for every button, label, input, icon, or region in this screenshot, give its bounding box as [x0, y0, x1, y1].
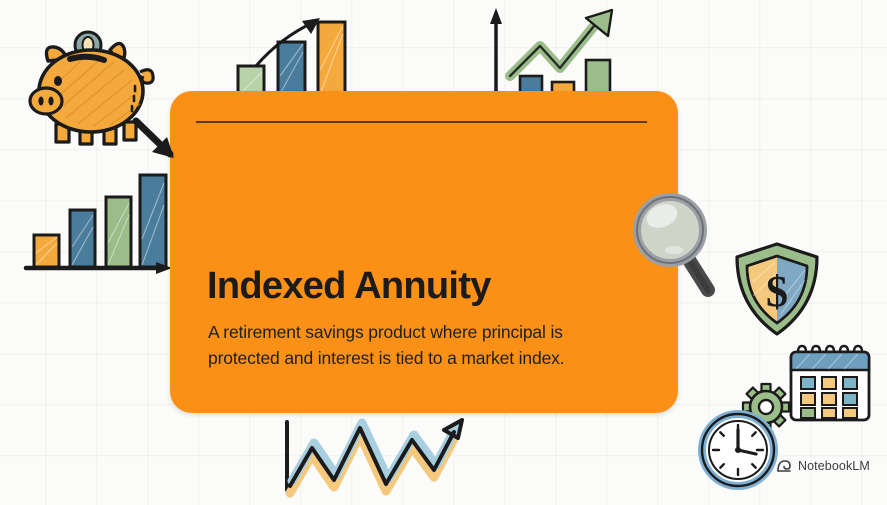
arrow-to-card-icon — [134, 118, 190, 170]
clock-icon — [696, 408, 780, 492]
growth-arrow-chart — [482, 2, 634, 96]
card-divider — [196, 121, 647, 123]
card-description: A retirement savings product where princ… — [208, 320, 638, 372]
notebooklm-label: NotebookLM — [798, 459, 870, 473]
notebooklm-spiral-icon — [776, 459, 792, 473]
bar-chart-top — [232, 4, 350, 96]
slide-canvas: Indexed Annuity A retirement savings pro… — [0, 0, 887, 505]
bar-chart-left — [20, 165, 176, 285]
page-title: Indexed Annuity — [207, 267, 647, 305]
shield-dollar-icon: $ — [731, 240, 823, 340]
calendar-icon — [786, 344, 874, 426]
svg-text:$: $ — [766, 267, 788, 316]
magnifying-glass-icon — [632, 190, 730, 302]
notebooklm-branding: NotebookLM — [776, 459, 870, 473]
zigzag-line-chart — [282, 412, 470, 504]
concept-card: Indexed Annuity A retirement savings pro… — [170, 91, 678, 413]
